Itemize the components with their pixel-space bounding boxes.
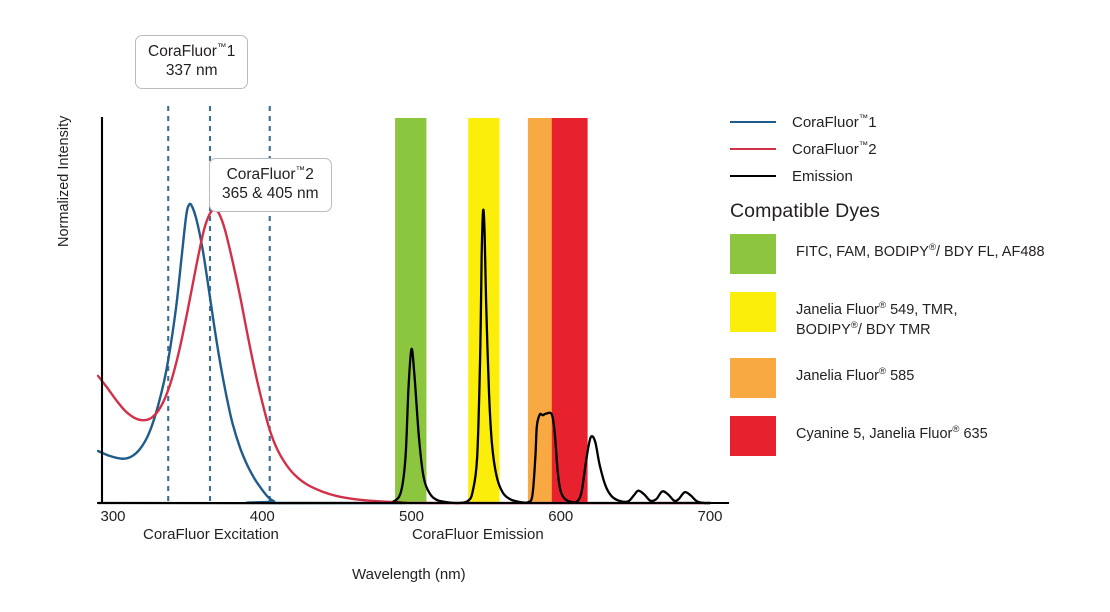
dye-color-swatch — [730, 292, 776, 332]
fluorescence-spectra-chart: CoraFluor™1 337 nm CoraFluor™2 365 & 405… — [0, 0, 1110, 612]
callout2-name-pre: CoraFluor — [227, 166, 296, 183]
legend-label-pre: Emission — [792, 168, 853, 185]
legend-line-swatch — [730, 148, 776, 150]
compatible-dyes-heading: Compatible Dyes — [730, 200, 880, 223]
dye-color-swatch — [730, 234, 776, 274]
dye-label-line: BODIPY®/ BDY TMR — [796, 320, 958, 340]
dye-color-swatch — [730, 358, 776, 398]
dye-item: Cyanine 5, Janelia Fluor® 635 — [730, 416, 1105, 456]
dye-label: Janelia Fluor® 549, TMR,BODIPY®/ BDY TMR — [796, 292, 958, 340]
registered-icon: ® — [879, 300, 886, 311]
trademark-icon: ™ — [859, 113, 869, 123]
x-tick-label-400: 400 — [232, 508, 292, 525]
callout2-name-post: 2 — [305, 166, 314, 183]
y-axis-title: Normalized Intensity — [56, 116, 72, 247]
legend-label-post: 2 — [868, 141, 876, 158]
registered-icon: ® — [851, 320, 858, 331]
legend-item: CoraFluor™1 — [730, 108, 1100, 135]
dye-label: FITC, FAM, BODIPY®/ BDY FL, AF488 — [796, 234, 1045, 262]
green-band — [395, 118, 426, 503]
trademark-icon: ™ — [217, 42, 227, 53]
dye-label-line: Cyanine 5, Janelia Fluor® 635 — [796, 424, 988, 444]
yellow-band — [468, 118, 499, 503]
callout1-name-pre: CoraFluor — [148, 43, 217, 60]
callout2-value: 365 & 405 nm — [222, 185, 319, 204]
callout1-name-post: 1 — [227, 43, 236, 60]
x-tick-label-600: 600 — [531, 508, 591, 525]
registered-icon: ® — [879, 366, 886, 377]
trademark-icon: ™ — [859, 140, 869, 150]
dye-item: FITC, FAM, BODIPY®/ BDY FL, AF488 — [730, 234, 1105, 274]
dye-item: Janelia Fluor® 549, TMR,BODIPY®/ BDY TMR — [730, 292, 1105, 340]
callout-corafluor1: CoraFluor™1 337 nm — [135, 35, 248, 89]
dye-label-line: FITC, FAM, BODIPY®/ BDY FL, AF488 — [796, 242, 1045, 262]
dye-label-line: Janelia Fluor® 549, TMR, — [796, 300, 958, 320]
dye-item: Janelia Fluor® 585 — [730, 358, 1105, 398]
x-axis-title: Wavelength (nm) — [352, 566, 466, 583]
x-tick-label-700: 700 — [680, 508, 740, 525]
registered-icon: ® — [929, 242, 936, 253]
legend-line-swatch — [730, 175, 776, 177]
legend-label-pre: CoraFluor — [792, 141, 859, 158]
legend-item: CoraFluor™2 — [730, 135, 1100, 162]
x-tick-label-300: 300 — [83, 508, 143, 525]
dye-label: Janelia Fluor® 585 — [796, 358, 914, 386]
dye-label: Cyanine 5, Janelia Fluor® 635 — [796, 416, 988, 444]
legend-line-swatch — [730, 121, 776, 123]
x-axis-sublabel-emission: CoraFluor Emission — [412, 526, 544, 543]
x-tick-label-500: 500 — [382, 508, 442, 525]
trademark-icon: ™ — [296, 165, 306, 176]
callout-corafluor2: CoraFluor™2 365 & 405 nm — [209, 158, 332, 212]
legend-label-post: 1 — [868, 114, 876, 131]
red-band — [552, 118, 588, 503]
series-legend: CoraFluor™1 CoraFluor™2 Emission — [730, 108, 1100, 189]
legend-item: Emission — [730, 162, 1100, 189]
orange-band — [528, 118, 555, 503]
x-axis-sublabel-excitation: CoraFluor Excitation — [143, 526, 279, 543]
compatible-dyes-list: FITC, FAM, BODIPY®/ BDY FL, AF488Janelia… — [730, 234, 1105, 474]
legend-label-pre: CoraFluor — [792, 114, 859, 131]
dye-color-swatch — [730, 416, 776, 456]
callout1-value: 337 nm — [148, 62, 235, 81]
registered-icon: ® — [952, 424, 959, 435]
dye-label-line: Janelia Fluor® 585 — [796, 366, 914, 386]
